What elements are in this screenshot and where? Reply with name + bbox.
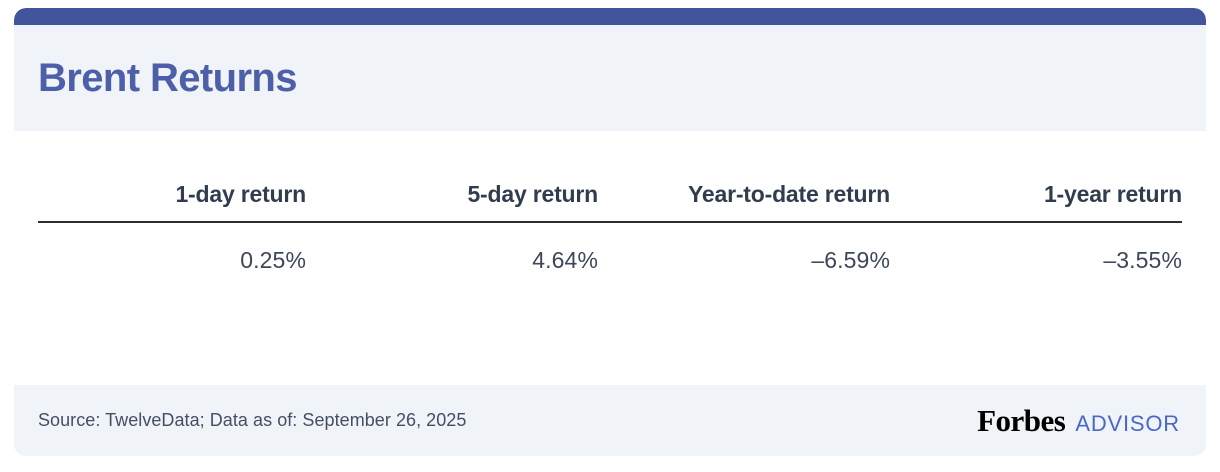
cell-1-day-return: 0.25%: [38, 222, 306, 275]
card-footer: Source: TwelveData; Data as of: Septembe…: [14, 385, 1206, 456]
advisor-wordmark: ADVISOR: [1075, 413, 1180, 435]
column-header-1-day-return: 1-day return: [38, 179, 306, 222]
card-accent-bar: [14, 8, 1206, 25]
source-note: Source: TwelveData; Data as of: Septembe…: [38, 410, 466, 431]
cell-5-day-return: 4.64%: [306, 222, 598, 275]
brent-returns-card: Brent Returns 1-day return 5-day return …: [14, 8, 1206, 456]
forbes-wordmark: Forbes: [977, 405, 1065, 436]
returns-table-region: 1-day return 5-day return Year-to-date r…: [14, 131, 1206, 385]
cell-1-year-return: –3.55%: [890, 222, 1182, 275]
returns-table: 1-day return 5-day return Year-to-date r…: [38, 179, 1182, 275]
table-header-row: 1-day return 5-day return Year-to-date r…: [38, 179, 1182, 222]
forbes-advisor-logo: Forbes ADVISOR: [977, 405, 1180, 436]
column-header-5-day-return: 5-day return: [306, 179, 598, 222]
card-header: Brent Returns: [14, 25, 1206, 131]
column-header-1-year-return: 1-year return: [890, 179, 1182, 222]
page-title: Brent Returns: [38, 58, 297, 98]
table-row: 0.25% 4.64% –6.59% –3.55%: [38, 222, 1182, 275]
column-header-year-to-date-return: Year-to-date return: [598, 179, 890, 222]
cell-year-to-date-return: –6.59%: [598, 222, 890, 275]
